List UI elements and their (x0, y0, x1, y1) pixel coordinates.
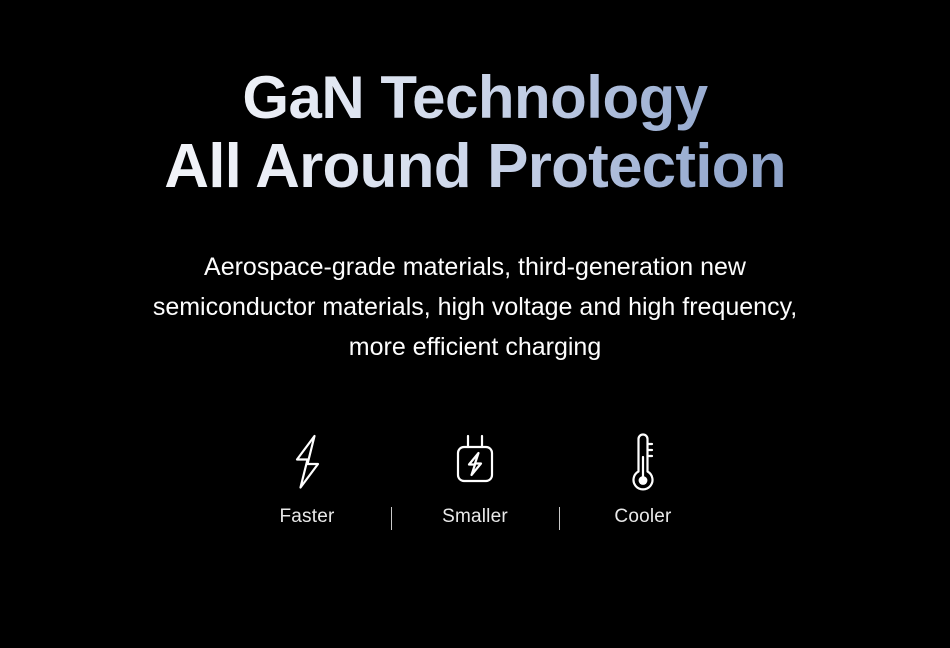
feature-label-smaller: Smaller (442, 507, 508, 526)
lightning-bolt-icon (287, 429, 327, 495)
feature-divider-2 (531, 429, 587, 530)
thermometer-icon (626, 429, 660, 495)
feature-highlights-row: Faster Smaller (251, 429, 699, 530)
headline-line-1: GaN Technology (164, 64, 786, 132)
page-title: GaN Technology All Around Protection (164, 64, 786, 203)
subcopy-line-2: semiconductor materials, high voltage an… (65, 287, 885, 327)
subcopy-line-1: Aerospace-grade materials, third-generat… (65, 247, 885, 287)
feature-divider-1 (363, 429, 419, 530)
subcopy-paragraph: Aerospace-grade materials, third-generat… (65, 247, 885, 367)
feature-faster: Faster (251, 429, 363, 526)
feature-label-cooler: Cooler (614, 507, 671, 526)
feature-label-faster: Faster (279, 507, 334, 526)
charger-adapter-icon (450, 429, 500, 495)
headline-line-2: All Around Protection (164, 132, 786, 203)
gan-technology-promo-banner: GaN Technology All Around Protection Aer… (0, 0, 950, 648)
feature-cooler: Cooler (587, 429, 699, 526)
feature-smaller: Smaller (419, 429, 531, 526)
subcopy-line-3: more efficient charging (65, 327, 885, 367)
